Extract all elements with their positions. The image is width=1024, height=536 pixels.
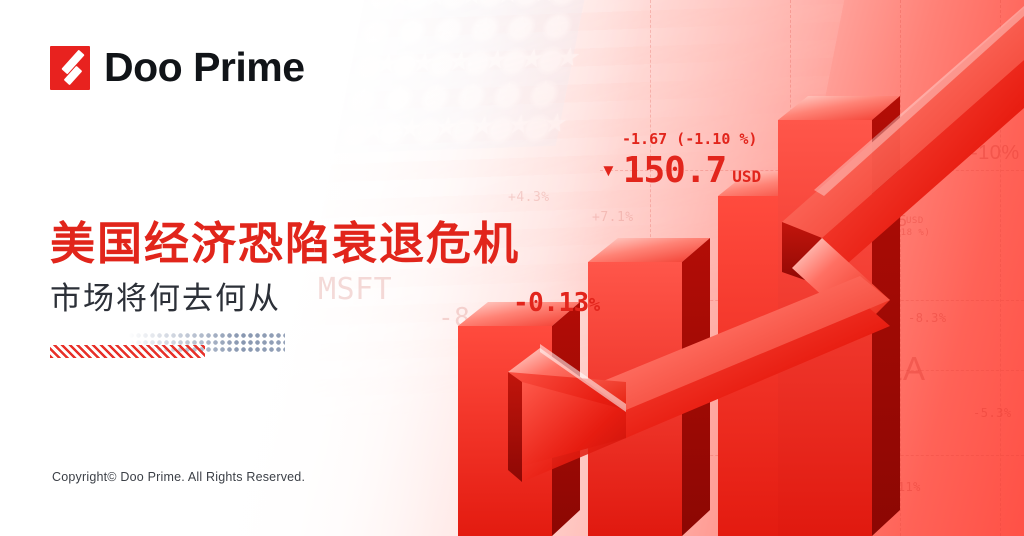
secondary-percent-value: -0.13 — [513, 288, 589, 318]
down-triangle-icon: ▼ — [600, 162, 617, 179]
page-subtitle: 市场将何去何从 — [50, 273, 281, 318]
price-change-label: -1.67 (-1.10 %) — [622, 130, 761, 148]
secondary-percent-unit: % — [589, 294, 600, 316]
brand-name: Doo Prime — [104, 44, 305, 91]
doo-prime-logo-mark-icon — [50, 46, 90, 90]
poster-canvas: ★★★★★★★★★★★★★★★★★★★★★★★★★★★★★★★★★★★★ MSF… — [0, 0, 1024, 536]
price-value: 150.7 — [623, 150, 726, 191]
price-currency: USD — [732, 167, 761, 186]
brand-logo[interactable]: Doo Prime — [50, 44, 305, 91]
divider-hatch-bar — [50, 345, 205, 358]
decorative-divider — [50, 332, 285, 360]
copyright-text: Copyright© Doo Prime. All Rights Reserve… — [52, 470, 305, 484]
background-ticker-0: MSFT — [318, 272, 392, 307]
price-callout: -1.67 (-1.10 %) ▼ 150.7 USD — [600, 130, 761, 191]
secondary-percent-callout: -0.13% — [513, 288, 600, 318]
page-title: 美国经济恐陷衰退危机 — [50, 207, 520, 272]
